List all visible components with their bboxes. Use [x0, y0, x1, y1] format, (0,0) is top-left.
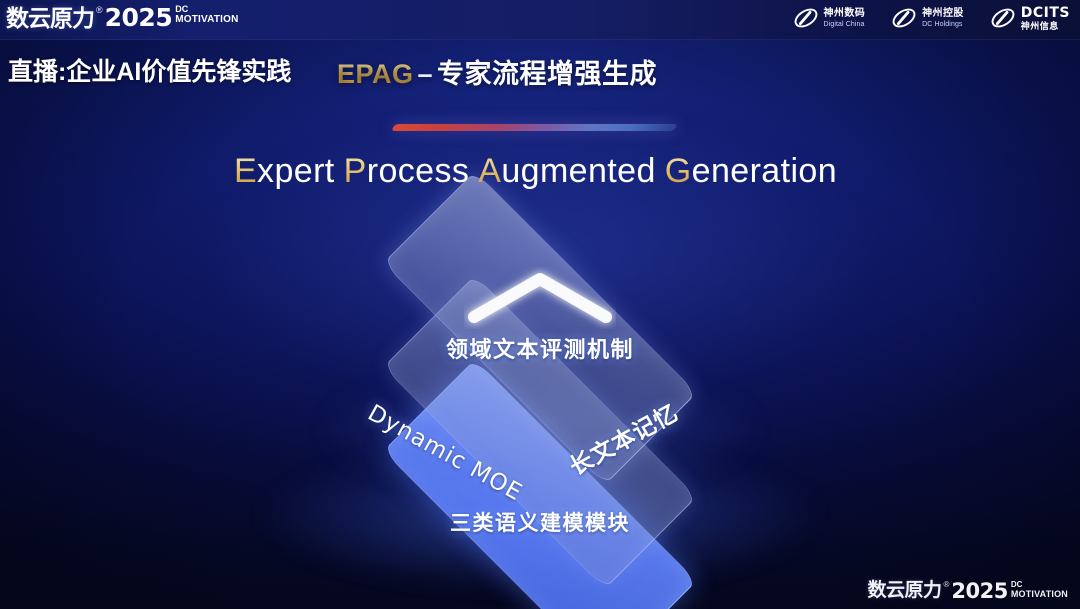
watermark-dc-motivation: DC MOTIVATION [1011, 581, 1068, 599]
partner-logo-digital-china: 神州数码 Digital China [793, 5, 866, 31]
header-bar: 数云原力 ® 2025 DC MOTIVATION 神州数码 Digital C… [0, 0, 1080, 40]
subtitle-remainder: ugmented [501, 152, 655, 190]
subtitle-word-generation: Generation [665, 152, 837, 191]
partner-label: 神州控股 DC Holdings [922, 9, 964, 28]
subtitle-initial: P [344, 152, 367, 190]
brand-name-cn: 数云原力 [6, 3, 94, 33]
slide-canvas: 数云原力 ® 2025 DC MOTIVATION 神州数码 Digital C… [0, 0, 1080, 609]
subtitle-remainder: rocess [367, 152, 470, 190]
watermark-dc-text: DC [1011, 581, 1068, 589]
partner-name-en: Digital China [824, 21, 866, 28]
subtitle: ExpertProcessAugmentedGeneration [0, 152, 1080, 191]
swoosh-icon [990, 5, 1016, 31]
brand-dc-motivation: DC MOTIVATION [175, 5, 238, 25]
gradient-divider [391, 124, 678, 131]
subtitle-initial: A [478, 152, 501, 190]
partner-name-en: DCITS [1021, 6, 1070, 20]
watermark-registered-mark: ® [943, 579, 949, 591]
footer-watermark-logo: 数云原力 ® 2025 DC MOTIVATION [867, 579, 1068, 603]
partner-logo-group: 神州数码 Digital China 神州控股 DC Holdings [793, 5, 1070, 31]
partner-label: 神州数码 Digital China [824, 9, 866, 28]
subtitle-remainder: eneration [692, 152, 837, 190]
brand-dc-text: DC [175, 5, 238, 14]
swoosh-icon [793, 5, 819, 31]
subtitle-remainder: xpert [257, 152, 335, 190]
swoosh-icon [891, 5, 917, 31]
partner-name-en: DC Holdings [922, 21, 964, 28]
subtitle-initial: G [665, 152, 692, 190]
partner-logo-dc-holdings: 神州控股 DC Holdings [891, 5, 964, 31]
brand-year: 2025 [105, 3, 173, 32]
partner-name-cn: 神州控股 [922, 9, 964, 19]
brand-registered-mark: ® [96, 3, 103, 17]
watermark-year: 2025 [951, 579, 1007, 603]
partner-name-cn: 神州数码 [824, 9, 866, 19]
watermark-motivation-text: MOTIVATION [1011, 589, 1068, 599]
partner-name-cn: 神州信息 [1021, 22, 1070, 31]
subtitle-word-expert: Expert [234, 152, 335, 191]
watermark-name-cn: 数云原力 [867, 579, 941, 603]
partner-label: DCITS 神州信息 [1021, 6, 1070, 31]
subtitle-initial: E [234, 152, 257, 190]
page-title: EPAG–专家流程增强生成 [337, 52, 657, 91]
stack-layer-top-label: 领域文本评测机制 [446, 332, 634, 364]
subtitle-word-augmented: Augmented [478, 152, 656, 191]
title-acronym: EPAG [337, 59, 414, 89]
title-chinese: 专家流程增强生成 [437, 59, 657, 89]
brand-motivation-text: MOTIVATION [175, 14, 238, 25]
live-stream-title: 直播:企业AI价值先锋实践 [8, 52, 291, 88]
partner-logo-dcits: DCITS 神州信息 [990, 5, 1070, 31]
title-dash: – [414, 59, 438, 89]
brand-logo: 数云原力 ® 2025 DC MOTIVATION [6, 3, 239, 33]
subtitle-word-process: Process [344, 152, 470, 191]
stack-layer-bottom-label: 三类语义建模模块 [450, 507, 630, 537]
